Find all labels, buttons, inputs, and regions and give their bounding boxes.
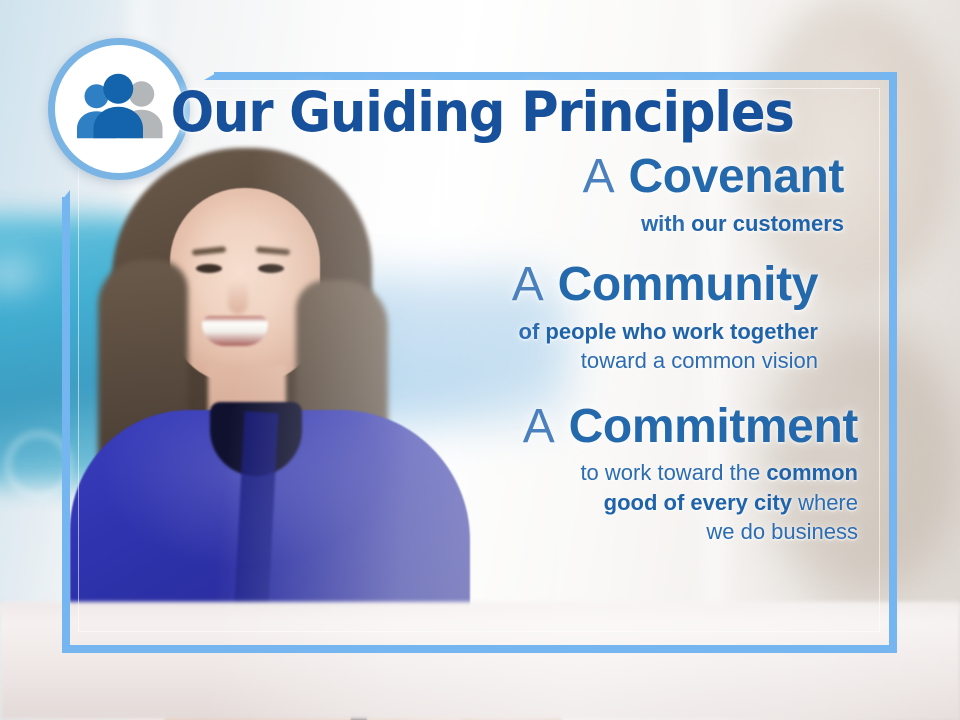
principle-subtext-line: of people who work together [90,317,818,346]
principle-community: A Community of people who work togethert… [90,260,880,375]
principle-heading: A Covenant [90,152,844,203]
principle-subtext-run: we do business [706,519,858,544]
principle-subtext-run: common [766,460,858,485]
principle-keyword: Covenant [629,150,845,203]
principle-article: A [523,400,556,453]
page-title: Our Guiding Principles [118,84,853,140]
principle-subtext-line: to work toward the common [90,458,858,487]
principle-keyword: Commitment [569,400,858,453]
principle-subtext-line: good of every city where [90,488,858,517]
principle-subtext-run: where [792,490,858,515]
guiding-principles-graphic: FLOW FLOW Ou [0,0,960,720]
principle-subtext-run: of [519,319,546,344]
principle-heading: A Commitment [90,402,858,453]
principle-commitment: A Commitment to work toward the commongo… [90,402,880,547]
principle-subtext-line: toward a common vision [90,346,818,375]
text-content: Our Guiding Principles A Covenant with o… [90,84,880,546]
principle-covenant: A Covenant with our customers [90,152,880,238]
principle-subtext-run: with [641,211,691,236]
principle-subtext: to work toward the commongood of every c… [90,458,858,546]
principle-subtext-line: with our customers [90,209,844,238]
principle-subtext-run: to work toward the [580,460,766,485]
principle-subtext-run: people who work together [545,319,818,344]
principle-subtext-run: good of every city [604,490,792,515]
principle-subtext-run: toward a common vision [581,348,818,373]
principle-heading: A Community [90,260,818,311]
principle-subtext-run: our customers [691,211,844,236]
principle-subtext: with our customers [90,209,844,238]
principle-subtext: of people who work togethertoward a comm… [90,317,818,376]
principle-article: A [512,258,545,311]
principle-keyword: Community [558,258,818,311]
principle-subtext-line: we do business [90,517,858,546]
principle-article: A [583,150,616,203]
